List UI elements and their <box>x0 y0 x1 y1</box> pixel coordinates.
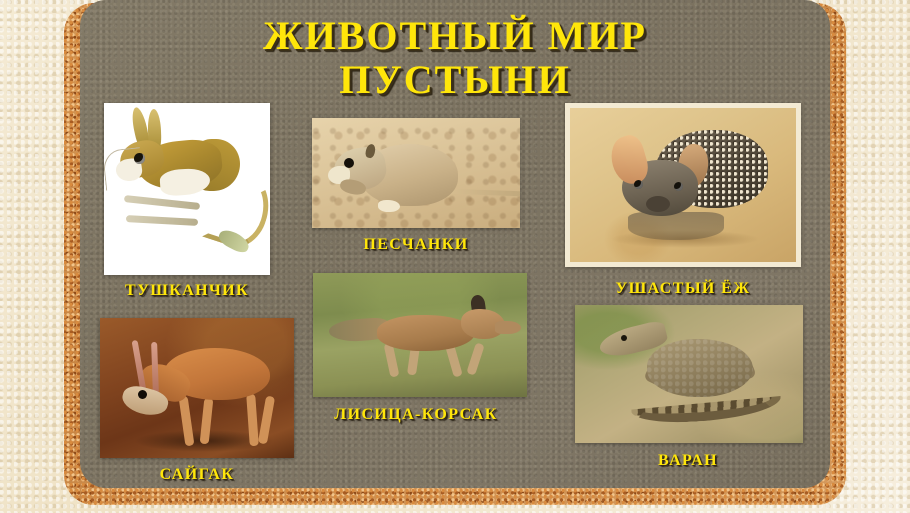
hedgehog-photo <box>565 103 801 267</box>
fox-foreleg-front-shape <box>466 342 484 375</box>
caption-jerboa: ТУШКАНЧИК <box>125 282 249 300</box>
saiga-horn-left-shape <box>132 340 147 392</box>
fox-photo <box>313 273 527 397</box>
page-title: ЖИВОТНЫЙ МИР ПУСТЫНИ <box>80 14 830 102</box>
slide-canvas: ЖИВОТНЫЙ МИР ПУСТЫНИ ТУШКАНЧИК <box>0 0 910 513</box>
hedgehog-eye-right-shape <box>674 182 683 191</box>
caption-hedgehog: УШАСТЫЙ ЁЖ <box>616 280 751 298</box>
gerbil-tail-shape <box>448 189 520 197</box>
saiga-horn-right-shape <box>151 342 159 394</box>
jerboa-foreleg-shape <box>126 215 198 226</box>
slide-content-panel: ЖИВОТНЫЙ МИР ПУСТЫНИ ТУШКАНЧИК <box>80 0 830 488</box>
animal-card-fox[interactable] <box>313 273 527 397</box>
animal-card-hedgehog[interactable] <box>565 103 801 267</box>
varan-body-shape <box>647 339 753 397</box>
gerbil-photo <box>312 118 520 228</box>
saiga-eye-shape <box>138 390 147 399</box>
varan-photo <box>575 305 803 443</box>
hedgehog-snout-shape <box>646 196 670 212</box>
animal-card-jerboa[interactable] <box>104 103 270 275</box>
hedgehog-legs-shape <box>628 212 724 240</box>
gerbil-eye-shape <box>344 158 354 168</box>
gerbil-foot-shape <box>378 200 400 212</box>
jerboa-illustration <box>104 103 270 275</box>
varan-eye-shape <box>621 335 627 341</box>
animal-card-saiga[interactable] <box>100 318 294 458</box>
hedgehog-eye-left-shape <box>634 180 643 189</box>
animal-card-gerbil[interactable] <box>312 118 520 228</box>
fox-snout-shape <box>495 321 521 334</box>
jerboa-hindleg-shape <box>124 195 200 210</box>
caption-saiga: САЙГАК <box>160 466 235 484</box>
jerboa-eye-shape <box>134 153 145 164</box>
saiga-photo <box>100 318 294 458</box>
jerboa-belly-shape <box>159 167 211 196</box>
caption-gerbil: ПЕСЧАНКИ <box>363 236 468 254</box>
caption-fox: ЛИСИЦА-КОРСАК <box>334 406 497 424</box>
caption-varan: ВАРАН <box>658 452 718 470</box>
animal-card-varan[interactable] <box>575 305 803 443</box>
